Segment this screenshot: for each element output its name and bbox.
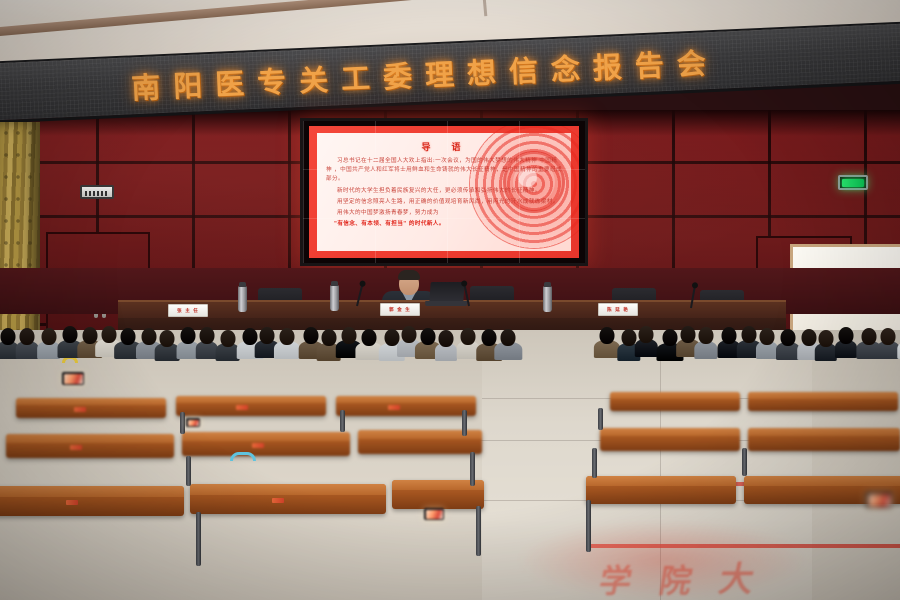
person-head	[742, 326, 757, 343]
person-head	[501, 329, 516, 346]
audience-person	[694, 327, 717, 362]
audience-person	[877, 328, 900, 363]
person-head	[818, 330, 833, 347]
person-head	[600, 327, 615, 344]
slide-title: 导 语	[326, 140, 562, 153]
smartphone-screen	[424, 508, 444, 520]
person-head	[41, 328, 56, 345]
lecture-desk	[600, 428, 740, 451]
person-head	[361, 329, 376, 346]
nameplate: 陈 延 艳	[598, 303, 638, 316]
audience-person	[635, 326, 657, 361]
lecture-hall-photo: 南阳医专关工委理想信念报告会 导 语 习总书记在十二届全国人大欢上指出:一次会议…	[0, 0, 900, 600]
person-head	[639, 326, 654, 343]
person-head	[0, 328, 15, 345]
lecture-desk	[586, 476, 736, 504]
audience-person	[835, 327, 857, 362]
person-head	[181, 327, 196, 344]
person-head	[260, 327, 275, 344]
nameplate-text: 张 主 任	[177, 308, 199, 314]
person-head	[341, 327, 356, 344]
lecture-desk	[190, 484, 386, 514]
audience-person	[16, 328, 38, 363]
person-head	[881, 328, 896, 345]
nameplate-text: 陈 延 艳	[607, 307, 629, 313]
nameplate: 郭 金 生	[380, 303, 420, 316]
person-head	[461, 328, 476, 345]
thermos-flask	[330, 285, 339, 311]
desk-leg	[598, 408, 603, 430]
desk-leg	[592, 448, 597, 478]
desk-leg	[742, 448, 747, 476]
person-head	[861, 328, 876, 345]
person-head	[121, 328, 136, 345]
slide-paragraph: 新时代的大学生担负着民族复兴的大任，更必须传承和弘扬伟大的长征精神。	[326, 187, 562, 196]
person-head	[839, 327, 854, 344]
exit-sign-glow	[842, 179, 864, 187]
wall-notice-sign-left	[80, 185, 114, 199]
person-head	[760, 328, 775, 345]
desk-leg	[196, 512, 201, 566]
ceiling-seam	[477, 0, 487, 16]
person-head	[20, 328, 35, 345]
slide-paragraph: 习总书记在十二届全国人大欢上指出:一次会议，为国的伟大梦想的伟大精神 中国精神 …	[326, 157, 562, 185]
lecture-desk	[182, 432, 350, 456]
lecture-desk	[6, 434, 174, 458]
desk-leg	[180, 412, 185, 434]
slide-content: 导 语 习总书记在十二届全国人大欢上指出:一次会议，为国的伟大梦想的伟大精神 中…	[317, 133, 571, 251]
lecture-desk	[0, 486, 184, 516]
thermos-flask	[543, 286, 552, 312]
slide-highlight-line: "有信念、有本领、有担当" 的时代新人。	[326, 220, 562, 229]
laptop	[429, 282, 464, 302]
person-head	[722, 327, 737, 344]
audience-person	[814, 330, 836, 365]
slide-paragraph: 用坚定的信念照亮人生路，用正确的价值观培育新风尚，用闪光的汗水成就栋梁材。	[326, 198, 562, 207]
desk-leg	[586, 500, 591, 552]
lecture-desk	[16, 398, 166, 418]
audience-person	[274, 328, 300, 363]
person-head	[439, 330, 454, 347]
thermos-flask	[238, 286, 247, 312]
lecture-desk	[748, 392, 898, 411]
nameplate: 张 主 任	[168, 304, 208, 317]
person-head	[62, 326, 77, 343]
desk-leg	[470, 452, 475, 486]
desk-leg	[462, 410, 467, 436]
person-head	[160, 330, 175, 347]
nameplate-text: 郭 金 生	[389, 307, 411, 313]
desk-leg	[340, 410, 345, 432]
smartphone-screen	[186, 418, 200, 427]
audience-person	[435, 330, 457, 365]
audience-person	[495, 329, 522, 364]
lecture-desk	[610, 392, 740, 411]
smartphone-screen	[62, 372, 84, 385]
person-head	[321, 329, 336, 346]
presentation-slide: 导 语 习总书记在十二届全国人大欢上指出:一次会议，为国的伟大梦想的伟大精神 中…	[309, 126, 579, 258]
speaker-hair	[398, 270, 420, 280]
lecture-desk	[336, 396, 476, 416]
exit-sign-icon	[838, 175, 868, 190]
smartphone-screen	[866, 492, 892, 508]
person-head	[199, 327, 214, 344]
person-head	[421, 328, 436, 345]
person-head	[781, 329, 796, 346]
desk-leg	[476, 506, 481, 556]
person-head	[663, 329, 678, 346]
person-head	[401, 326, 416, 343]
person-head	[280, 328, 295, 345]
desk-leg	[186, 456, 191, 486]
audience-person	[756, 328, 778, 363]
person-head	[220, 330, 235, 347]
projection-screen: 导 语 习总书记在十二届全国人大欢上指出:一次会议，为国的伟大梦想的伟大精神 中…	[300, 118, 588, 266]
lanyard	[230, 452, 256, 461]
person-head	[699, 327, 714, 344]
lecture-desk	[748, 428, 900, 451]
lecture-desk	[176, 396, 326, 416]
slide-paragraph: 用伟大的中国梦激扬青春梦，努力成为	[326, 209, 562, 218]
